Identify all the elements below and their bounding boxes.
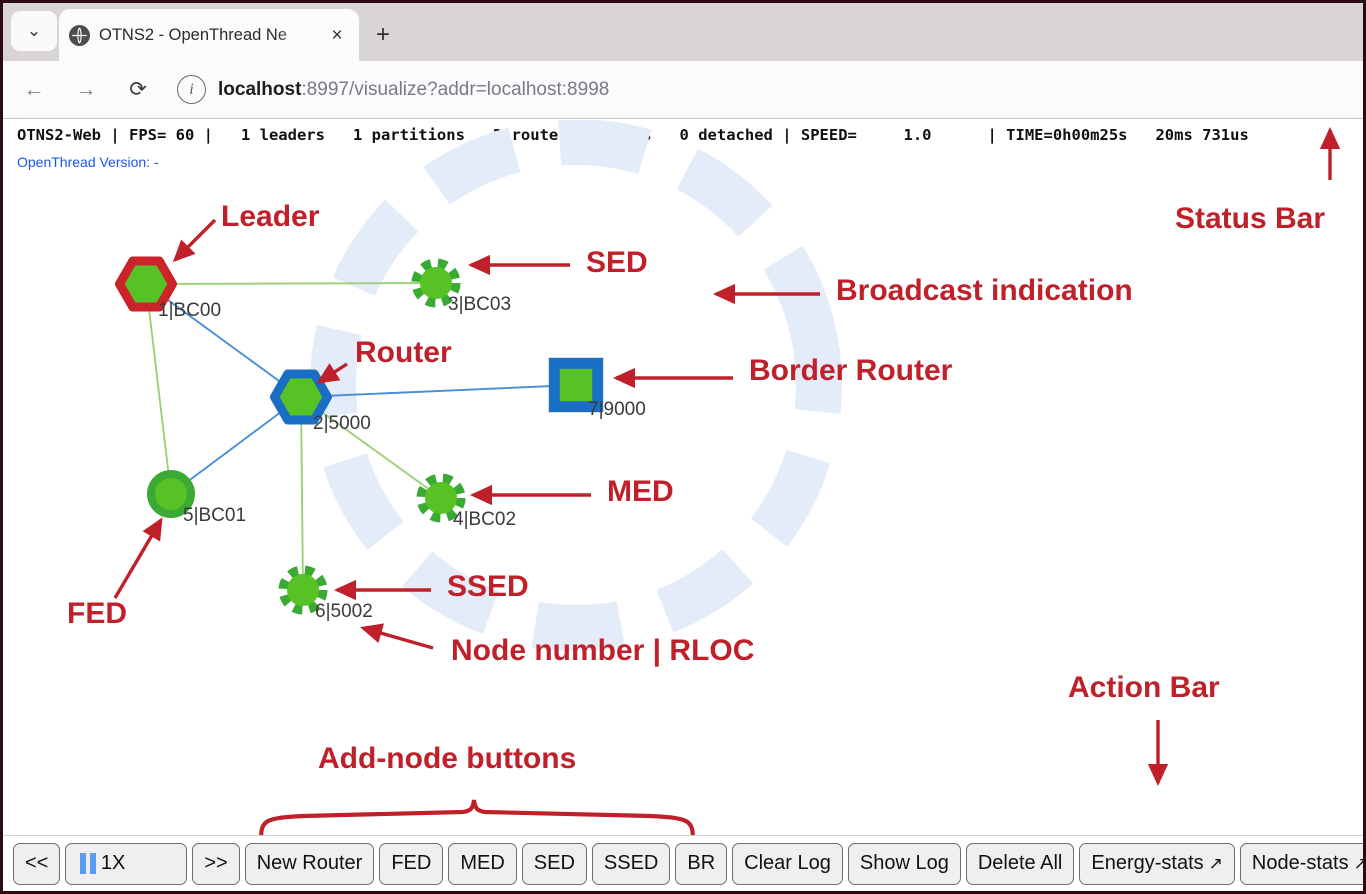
speed-label: 1X (101, 852, 125, 875)
network-node-1[interactable]: 1|BC00 (120, 261, 222, 321)
show-log-button[interactable]: Show Log (848, 843, 961, 885)
delete-all-button[interactable]: Delete All (966, 843, 1075, 885)
step-back-button[interactable]: << (13, 843, 60, 885)
energy-stats-label: Energy-stats (1091, 852, 1203, 875)
annotation-ssed: SSED (447, 570, 529, 603)
annotation-action-bar: Action Bar (1068, 671, 1220, 704)
node-label: 5|BC01 (183, 505, 246, 526)
network-link (146, 283, 436, 284)
site-info-icon[interactable]: i (177, 75, 206, 104)
network-node-7[interactable]: 7|9000 (554, 363, 645, 420)
network-node-4[interactable]: 4|BC02 (421, 478, 516, 530)
forward-icon[interactable]: → (65, 69, 107, 111)
network-link (301, 397, 303, 590)
tab-title: OTNS2 - OpenThread Ne (99, 26, 325, 45)
browser-tab-strip: ⌄ OTNS2 - OpenThread Ne × + (3, 3, 1363, 61)
address-bar[interactable]: i localhost:8997/visualize?addr=localhos… (177, 70, 1363, 110)
new-tab-button[interactable]: + (367, 19, 399, 51)
network-node-6[interactable]: 6|5002 (283, 570, 373, 622)
back-icon[interactable]: ← (13, 69, 55, 111)
annotation-leader: Leader (221, 200, 320, 233)
speed-button[interactable]: 1X (65, 843, 187, 885)
reload-icon[interactable]: ⟳ (117, 69, 159, 111)
network-node-5[interactable]: 5|BC01 (151, 474, 246, 526)
otns-page: OTNS2-Web | FPS= 60 | 1 leaders 1 partit… (3, 120, 1363, 891)
step-forward-button[interactable]: >> (192, 843, 239, 885)
add-node-buttons-brace (261, 800, 693, 840)
node-label: 2|5000 (313, 413, 371, 434)
annotation-fed: FED (67, 597, 127, 630)
energy-stats-button[interactable]: Energy-stats ↗ (1079, 843, 1235, 885)
browser-tab[interactable]: OTNS2 - OpenThread Ne × (59, 9, 359, 61)
node-label: 3|BC03 (448, 294, 511, 315)
external-link-icon: ↗ (1209, 854, 1223, 874)
annotation-router: Router (355, 336, 452, 369)
annotation-status-bar: Status Bar (1175, 202, 1325, 235)
node-label: 1|BC00 (158, 300, 221, 321)
network-visualization[interactable]: 1|BC002|50003|BC034|BC025|BC016|50027|90… (3, 120, 1363, 891)
annotation-med: MED (607, 475, 674, 508)
med-button[interactable]: MED (448, 843, 516, 885)
annotation-add-node-buttons: Add-node buttons (318, 742, 576, 775)
network-links (146, 283, 576, 590)
node-label: 4|BC02 (453, 509, 516, 530)
url-text: localhost:8997/visualize?addr=localhost:… (218, 79, 609, 101)
network-node-3[interactable]: 3|BC03 (416, 263, 511, 315)
clear-log-button[interactable]: Clear Log (732, 843, 843, 885)
external-link-icon: ↗ (1354, 854, 1363, 874)
fed-button[interactable]: FED (379, 843, 443, 885)
annotation-border-router: Border Router (749, 354, 953, 387)
annotation-node-number-rloc: Node number | RLOC (451, 634, 754, 667)
annotation-broadcast: Broadcast indication (836, 274, 1133, 307)
ssed-button[interactable]: SSED (592, 843, 670, 885)
node-stats-button[interactable]: Node-stats ↗ (1240, 843, 1363, 885)
close-icon[interactable]: × (325, 23, 349, 47)
br-button[interactable]: BR (675, 843, 727, 885)
url-rest: :8997/visualize?addr=localhost:8998 (301, 79, 609, 100)
annotation-sed: SED (586, 246, 648, 279)
tab-list-chevron-icon[interactable]: ⌄ (11, 11, 57, 51)
annotation-node-number-rloc-arrow (363, 628, 433, 648)
action-bar: << 1X >> New Router FED MED SED SSED BR … (3, 835, 1363, 891)
annotation-fed-arrow (115, 520, 161, 598)
annotation-leader-arrow (175, 220, 215, 260)
pause-icon (80, 853, 96, 874)
url-host: localhost (218, 79, 301, 100)
browser-window: ⌄ OTNS2 - OpenThread Ne × + ← → ⟳ i loca… (0, 0, 1366, 894)
node-label: 6|5002 (315, 601, 373, 622)
browser-toolbar: ← → ⟳ i localhost:8997/visualize?addr=lo… (3, 61, 1363, 119)
node-stats-label: Node-stats (1252, 852, 1349, 875)
sed-button[interactable]: SED (522, 843, 587, 885)
chevron-down-icon: ⌄ (27, 21, 41, 41)
network-svg: 1|BC002|50003|BC034|BC025|BC016|50027|90… (3, 120, 1363, 891)
globe-icon (69, 25, 90, 46)
new-router-button[interactable]: New Router (245, 843, 375, 885)
node-label: 7|9000 (588, 399, 646, 420)
